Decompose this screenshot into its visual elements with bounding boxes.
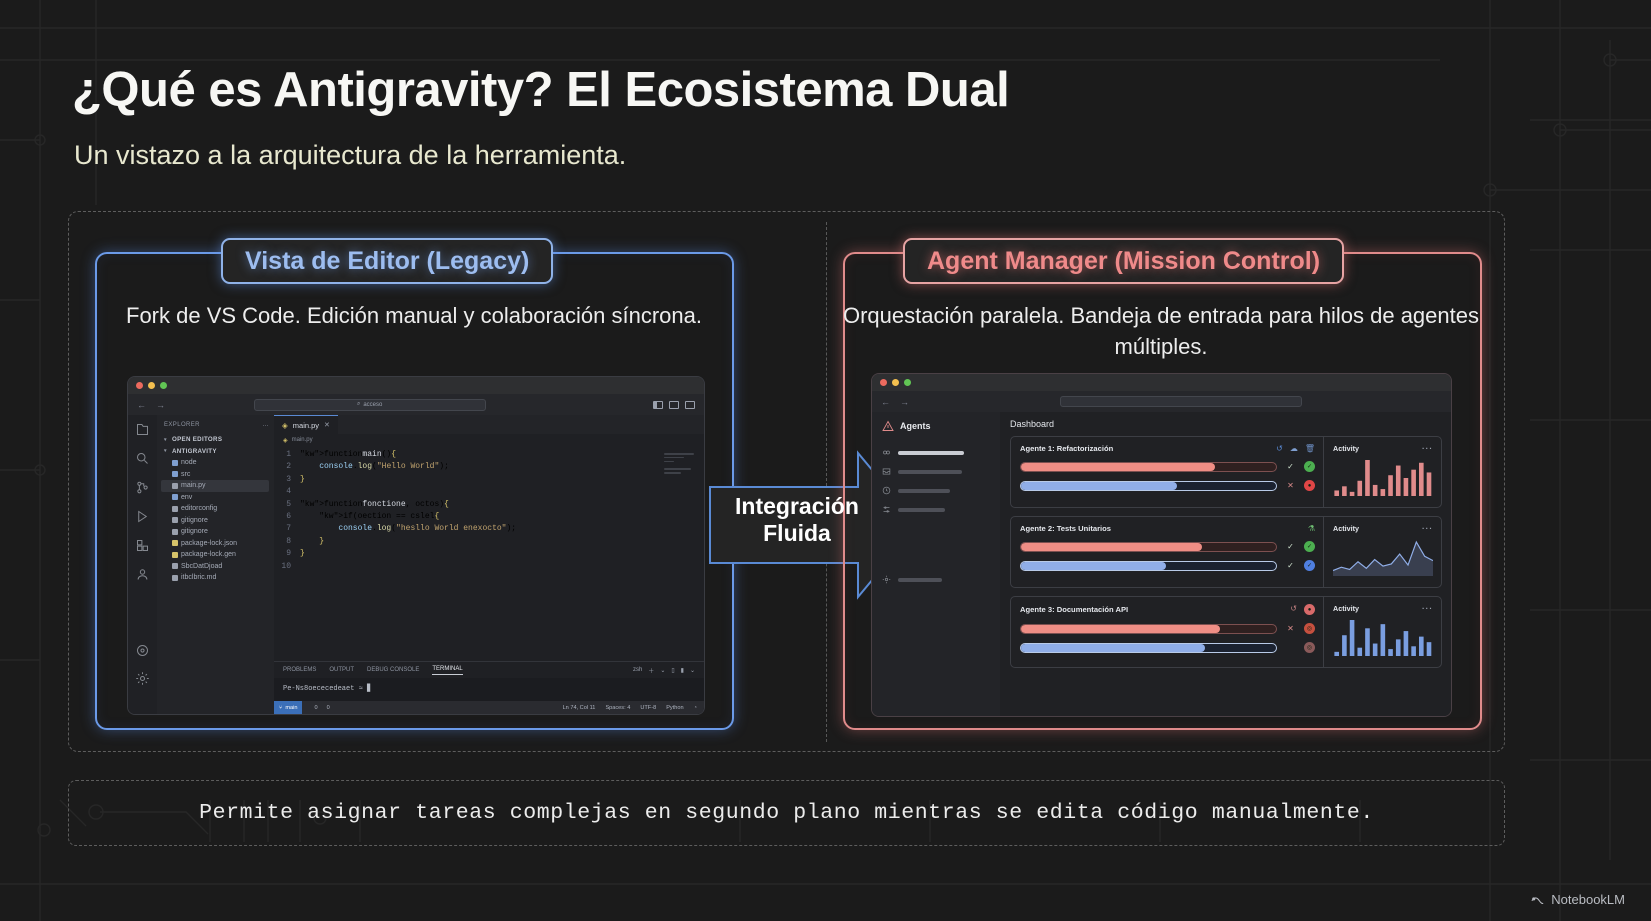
- explorer-item[interactable]: editorconfig: [164, 503, 269, 515]
- vscode-statusbar: ⑂ main 0 0 Ln 74, Col 11 Spaces: 4 UTF-8…: [274, 701, 704, 714]
- right-panel-badge: Agent Manager (Mission Control): [903, 238, 1344, 284]
- code-line: 7 console.log("hesllo World enexocto");: [274, 523, 704, 535]
- sidebar-item-label: [898, 489, 950, 493]
- line-number: 8: [274, 536, 300, 548]
- code-text: console.log("Hello World");: [300, 461, 449, 473]
- vscode-explorer: EXPLORER ... ▾OPEN EDITORS▾ANTIGRAVITY n…: [157, 415, 274, 714]
- agent-brand-label: Agents: [900, 421, 931, 431]
- status-badge[interactable]: ●: [1304, 480, 1315, 491]
- agent-card-header: Agente 2: Tests Unitarios ⚗: [1020, 524, 1315, 533]
- explorer-tree: ▾OPEN EDITORS▾ANTIGRAVITY node src main.…: [164, 434, 269, 584]
- agent-card-header: Agente 1: Refactorización ↺ ☁ 🗑: [1020, 444, 1315, 453]
- activity-header: Activity ···: [1333, 524, 1433, 533]
- progress-fill: [1021, 625, 1220, 633]
- cloud-upload-icon[interactable]: ☁: [1290, 444, 1298, 453]
- dashboard-title: Dashboard: [1010, 419, 1442, 429]
- line-number: 4: [274, 486, 300, 498]
- activity-label: Activity: [1333, 604, 1359, 613]
- statusbar-branch[interactable]: ⑂ main: [274, 701, 302, 714]
- file-icon: [172, 540, 178, 546]
- agent-card-main: Agente 2: Tests Unitarios ⚗ ✓ ✓ ✓ ✓: [1011, 517, 1323, 587]
- activity-sparkline: [1333, 458, 1433, 498]
- agent-card-list: Agente 1: Refactorización ↺ ☁ 🗑 ✓ ✓ ✕ ● …: [1010, 436, 1442, 668]
- progress-fill: [1021, 543, 1202, 551]
- toggle-layout-icon[interactable]: [685, 401, 695, 409]
- activity-header: Activity ···: [1333, 604, 1433, 613]
- agent-card[interactable]: Agente 3: Documentación API ↺ ● ✕ ◎ ◎ Ac…: [1010, 596, 1442, 668]
- status-check-icon[interactable]: ✓: [1286, 542, 1295, 551]
- left-panel-badge: Vista de Editor (Legacy): [221, 238, 553, 284]
- explorer-section[interactable]: ▾OPEN EDITORS: [164, 434, 269, 446]
- status-badge[interactable]: ●: [1304, 604, 1315, 615]
- search-icon[interactable]: [135, 451, 150, 466]
- file-icon: [172, 575, 178, 581]
- code-text: }: [300, 536, 324, 548]
- panel-tab-debug-console[interactable]: DEBUG CONSOLE: [367, 667, 419, 673]
- sidebar-footer-label: [898, 578, 942, 582]
- code-text: }: [300, 548, 305, 560]
- status-badge[interactable]: ◎: [1304, 623, 1315, 634]
- sidebar-item-label: [898, 451, 964, 455]
- code-text: console.log("hesllo World enexocto");: [300, 523, 516, 535]
- sidebar-item-label: [898, 508, 945, 512]
- page-title: ¿Qué es Antigravity? El Ecosistema Dual: [72, 62, 1009, 118]
- remote-icon[interactable]: [135, 643, 150, 658]
- agent-manager-mockup-window: ← → Agents: [871, 373, 1452, 717]
- progress-fill: [1021, 644, 1205, 652]
- panel-tab-problems[interactable]: PROBLEMS: [283, 667, 316, 673]
- code-text: }: [300, 474, 305, 486]
- activity-header: Activity ···: [1333, 444, 1433, 453]
- progress-fill: [1021, 482, 1177, 490]
- forward-icon[interactable]: →: [900, 397, 909, 407]
- python-file-icon: ◈: [283, 437, 288, 444]
- statusbar-encoding[interactable]: UTF-8: [640, 705, 656, 711]
- file-icon: [172, 506, 178, 512]
- code-text: "kw">function: [300, 499, 362, 511]
- close-tab-icon[interactable]: ✕: [324, 421, 330, 429]
- minimize-icon[interactable]: [148, 382, 155, 389]
- agent-body: Agents: [872, 412, 1451, 716]
- agent-progress-row: ✕ ◎: [1020, 623, 1315, 634]
- vscode-titlebar: [128, 377, 704, 394]
- code-line: 1 "kw">function main() {: [274, 449, 704, 461]
- code-line: 3 }: [274, 474, 704, 486]
- layout-toggle-group: [653, 401, 695, 409]
- sidebar-item-label: [898, 470, 962, 474]
- agent-brand: Agents: [882, 420, 991, 432]
- statusbar-warnings[interactable]: 0: [327, 705, 330, 711]
- threads-icon: [882, 448, 891, 457]
- file-icon: [172, 494, 178, 500]
- agent-progress-row: ✕ ●: [1020, 480, 1315, 491]
- explorer-item[interactable]: env: [164, 492, 269, 504]
- explorer-item[interactable]: SbcDatDjoad: [164, 561, 269, 573]
- code-line: 10: [274, 561, 704, 573]
- statusbar-right: Ln 74, Col 11 Spaces: 4 UTF-8 Python ◔: [563, 705, 697, 711]
- arrow-label-line1: Integración: [708, 493, 886, 520]
- code-editor[interactable]: 1 "kw">function main() { 2 console.log("…: [274, 446, 704, 661]
- page-subtitle: Un vistazo a la arquitectura de la herra…: [74, 140, 626, 171]
- progress-track: [1020, 624, 1277, 634]
- line-number: 10: [274, 561, 300, 573]
- progress-track: [1020, 643, 1277, 653]
- left-panel-description: Fork de VS Code. Edición manual y colabo…: [94, 300, 734, 331]
- explorer-item[interactable]: main.py: [161, 480, 269, 492]
- agent-progress-row: ✓ ✓: [1020, 461, 1315, 472]
- code-line: 4: [274, 486, 704, 498]
- trash-icon[interactable]: ▮: [681, 667, 684, 674]
- slide-canvas: ¿Qué es Antigravity? El Ecosistema Dual …: [0, 0, 1651, 921]
- source-control-icon[interactable]: [135, 480, 150, 495]
- activity-bar-bottom: [135, 643, 150, 686]
- split-terminal-icon[interactable]: ▯: [671, 667, 674, 674]
- agent-card-title: Agente 1: Refactorización: [1020, 444, 1113, 453]
- progress-fill: [1021, 562, 1166, 570]
- agent-card-header: Agente 3: Documentación API ↺ ●: [1020, 604, 1315, 615]
- agent-card-actions: ↺ ●: [1290, 604, 1315, 615]
- explorer-item[interactable]: package-lock.json: [164, 538, 269, 550]
- explorer-more-icon[interactable]: ...: [263, 422, 269, 428]
- more-options-icon[interactable]: ···: [1422, 604, 1433, 613]
- accounts-icon[interactable]: [135, 567, 150, 582]
- explorer-title: EXPLORER: [164, 422, 200, 428]
- status-badge[interactable]: ✓: [1304, 560, 1315, 571]
- code-line: 5 "kw">function fonctione, octos) {: [274, 499, 704, 511]
- agent-card[interactable]: Agente 2: Tests Unitarios ⚗ ✓ ✓ ✓ ✓ Acti…: [1010, 516, 1442, 588]
- code-line: 9 }: [274, 548, 704, 560]
- activity-label: Activity: [1333, 444, 1359, 453]
- status-check-icon[interactable]: ✕: [1286, 624, 1295, 633]
- python-file-icon: ◈: [282, 421, 288, 430]
- line-number: 7: [274, 523, 300, 535]
- arrow-label: Integración Fluida: [708, 493, 886, 547]
- agent-titlebar: [872, 374, 1451, 391]
- line-number: 2: [274, 461, 300, 473]
- back-icon[interactable]: ←: [137, 400, 146, 410]
- search-icon: ⌕: [357, 401, 360, 408]
- line-number: 9: [274, 548, 300, 560]
- progress-track: [1020, 481, 1277, 491]
- right-panel-description: Orquestación paralela. Bandeja de entrad…: [841, 300, 1481, 362]
- line-number: 5: [274, 499, 300, 511]
- explorer-item[interactable]: gitignore: [164, 526, 269, 538]
- vscode-body: EXPLORER ... ▾OPEN EDITORS▾ANTIGRAVITY n…: [128, 415, 704, 714]
- vscode-toolbar: ← → ⌕ acceso: [128, 394, 704, 415]
- explorer-header: EXPLORER ...: [164, 422, 269, 428]
- line-number: 1: [274, 449, 300, 461]
- file-icon: [172, 460, 178, 466]
- address-bar[interactable]: [1060, 396, 1302, 407]
- editor-panel-tabs: PROBLEMS OUTPUT DEBUG CONSOLE TERMINAL z…: [274, 661, 704, 678]
- file-icon: [172, 563, 178, 569]
- agent-activity-panel: Activity ···: [1323, 597, 1441, 667]
- terminal-shell-label: zsh: [633, 667, 642, 673]
- status-badge[interactable]: ◎: [1304, 642, 1315, 653]
- statusbar-position[interactable]: Ln 74, Col 11: [563, 705, 596, 711]
- editor-tab-label: main.py: [293, 421, 319, 430]
- status-badge[interactable]: ✓: [1304, 461, 1315, 472]
- flask-icon[interactable]: ⚗: [1308, 524, 1315, 533]
- bell-icon[interactable]: ◔: [694, 705, 697, 711]
- progress-track: [1020, 462, 1277, 472]
- back-icon[interactable]: ←: [881, 397, 890, 407]
- explorer-section[interactable]: ▾ANTIGRAVITY: [164, 446, 269, 458]
- file-icon: [172, 483, 178, 489]
- sidebar-item-activity[interactable]: [882, 481, 991, 500]
- agent-card-title: Agente 3: Documentación API: [1020, 605, 1128, 614]
- close-icon[interactable]: [880, 379, 887, 386]
- progress-fill: [1021, 463, 1215, 471]
- editor-tabbar: ◈ main.py ✕: [274, 415, 704, 434]
- explorer-item[interactable]: package-lock.gen: [164, 549, 269, 561]
- file-icon: [172, 471, 178, 477]
- forward-icon[interactable]: →: [156, 400, 165, 410]
- gear-icon[interactable]: [135, 671, 150, 686]
- notebooklm-icon: [1530, 892, 1545, 907]
- more-options-icon[interactable]: ···: [1422, 444, 1433, 453]
- line-number: 6: [274, 511, 300, 523]
- arrow-label-line2: Fluida: [708, 520, 886, 547]
- code-line: 6 "kw">if (oection == cslel {: [274, 511, 704, 523]
- statusbar-branch-label: main: [285, 705, 297, 711]
- vscode-editor-area: ◈ main.py ✕ ◈ main.py 1 "kw">function ma…: [274, 415, 704, 714]
- status-check-icon[interactable]: ✕: [1286, 481, 1295, 490]
- notebooklm-watermark: NotebookLM: [1530, 892, 1625, 907]
- code-text: "kw">if: [300, 511, 353, 523]
- terminal-actions: zsh ＋ ⌄ ▯ ▮ ⌄: [633, 666, 695, 675]
- progress-track: [1020, 542, 1277, 552]
- minimap[interactable]: [664, 453, 698, 476]
- sidebar-footer[interactable]: [882, 575, 991, 584]
- vscode-activity-bar: [128, 415, 157, 714]
- explorer-item[interactable]: itbclbric.md: [164, 572, 269, 584]
- add-terminal-icon[interactable]: ＋: [648, 666, 654, 675]
- activity-sparkline: [1333, 618, 1433, 658]
- agent-dashboard: Dashboard Agente 1: Refactorización ↺ ☁ …: [1000, 412, 1451, 716]
- status-badge[interactable]: ✓: [1304, 541, 1315, 552]
- explorer-item[interactable]: gitignore: [164, 515, 269, 527]
- refresh-icon[interactable]: ↺: [1276, 444, 1283, 453]
- statusbar-errors[interactable]: 0: [314, 705, 317, 711]
- agent-card-title: Agente 2: Tests Unitarios: [1020, 524, 1111, 533]
- status-check-icon[interactable]: ✓: [1286, 561, 1295, 570]
- more-options-icon[interactable]: ···: [1422, 524, 1433, 533]
- chevron-down-icon[interactable]: ⌄: [660, 667, 665, 674]
- panel-tab-output[interactable]: OUTPUT: [329, 667, 354, 673]
- inbox-icon: [882, 467, 891, 476]
- agent-progress-row: ◎: [1020, 642, 1315, 653]
- progress-track: [1020, 561, 1277, 571]
- sidebar-item-inbox[interactable]: [882, 462, 991, 481]
- vscode-search-input[interactable]: ⌕ acceso: [254, 399, 486, 411]
- activity-label: Activity: [1333, 524, 1359, 533]
- activity-sparkline: [1333, 538, 1433, 578]
- watermark-label: NotebookLM: [1551, 892, 1625, 907]
- explorer-icon[interactable]: [135, 422, 150, 437]
- agent-sidebar: Agents: [872, 412, 1000, 716]
- statusbar-spaces[interactable]: Spaces: 4: [605, 705, 630, 711]
- agent-activity-panel: Activity ···: [1323, 437, 1441, 507]
- vscode-mockup-window: ← → ⌕ acceso: [127, 376, 705, 715]
- toggle-panel-icon[interactable]: [669, 401, 679, 409]
- gear-icon: [882, 575, 891, 584]
- file-icon: [172, 517, 178, 523]
- agent-card-actions: ⚗: [1308, 524, 1315, 533]
- agent-card-main: Agente 3: Documentación API ↺ ● ✕ ◎ ◎: [1011, 597, 1323, 667]
- code-text: "kw">function: [300, 449, 362, 461]
- extensions-icon[interactable]: [135, 538, 150, 553]
- footer-caption: Permite asignar tareas complejas en segu…: [68, 780, 1505, 846]
- panel-tab-terminal[interactable]: TERMINAL: [432, 666, 462, 675]
- agent-progress-row: ✓ ✓: [1020, 560, 1315, 571]
- code-line: 2 console.log("Hello World");: [274, 461, 704, 473]
- maximize-icon[interactable]: [904, 379, 911, 386]
- close-icon[interactable]: [136, 382, 143, 389]
- code-line: 8 }: [274, 536, 704, 548]
- editor-breadcrumb: ◈ main.py: [274, 434, 704, 446]
- toggle-sidebar-icon[interactable]: [653, 401, 663, 409]
- source-control-icon: ⑂: [279, 705, 282, 711]
- run-debug-icon[interactable]: [135, 509, 150, 524]
- status-check-icon[interactable]: ✓: [1286, 462, 1295, 471]
- agent-progress-row: ✓ ✓: [1020, 541, 1315, 552]
- statusbar-language[interactable]: Python: [666, 705, 683, 711]
- undo-icon[interactable]: ↺: [1290, 604, 1297, 615]
- breadcrumb-label: main.py: [292, 437, 313, 443]
- collapse-panel-icon[interactable]: ⌄: [690, 667, 695, 674]
- line-number: 3: [274, 474, 300, 486]
- file-icon: [172, 552, 178, 558]
- sidebar-item-settings[interactable]: [882, 500, 991, 519]
- agent-activity-panel: Activity ···: [1323, 517, 1441, 587]
- editor-tab-main-py[interactable]: ◈ main.py ✕: [274, 415, 338, 434]
- maximize-icon[interactable]: [160, 382, 167, 389]
- minimize-icon[interactable]: [892, 379, 899, 386]
- agent-card[interactable]: Agente 1: Refactorización ↺ ☁ 🗑 ✓ ✓ ✕ ● …: [1010, 436, 1442, 508]
- vscode-search-text: acceso: [363, 402, 382, 408]
- file-icon: [172, 529, 178, 535]
- explorer-item[interactable]: src: [164, 469, 269, 481]
- explorer-item[interactable]: node: [164, 457, 269, 469]
- antigravity-logo-icon: [882, 420, 894, 432]
- agent-card-actions: ↺ ☁ 🗑: [1276, 444, 1315, 453]
- agent-card-main: Agente 1: Refactorización ↺ ☁ 🗑 ✓ ✓ ✕ ●: [1011, 437, 1323, 507]
- sidebar-item-threads[interactable]: [882, 443, 991, 462]
- trash-icon[interactable]: 🗑: [1305, 444, 1315, 453]
- agent-toolbar: ← →: [872, 391, 1451, 412]
